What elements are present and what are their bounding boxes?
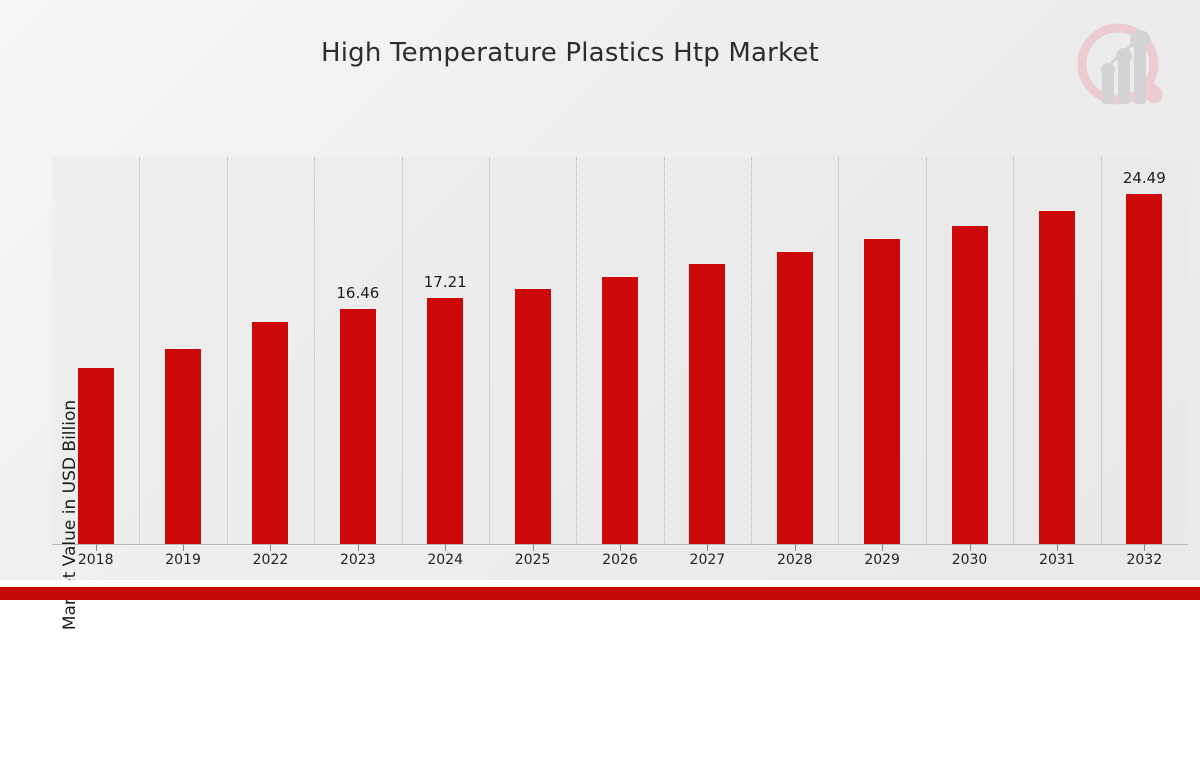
x-tick-label-2018: 2018 <box>78 552 114 568</box>
x-tick <box>882 544 883 551</box>
bar-value-label-2032: 24.49 <box>1123 169 1166 187</box>
bar-chart-icon <box>1101 30 1150 104</box>
x-tick-label-2031: 2031 <box>1039 552 1075 568</box>
bar-value-label-2024: 17.21 <box>424 273 467 291</box>
gridline <box>402 157 404 544</box>
footer-spacer <box>0 580 1200 587</box>
x-tick <box>970 544 971 551</box>
x-tick-label-2026: 2026 <box>602 552 638 568</box>
gridline <box>227 157 229 544</box>
gridline <box>576 157 578 544</box>
x-tick-label-2030: 2030 <box>952 552 988 568</box>
x-tick-label-2032: 2032 <box>1126 552 1162 568</box>
x-tick <box>445 544 446 551</box>
x-tick <box>270 544 271 551</box>
bar-2027[interactable] <box>688 263 726 544</box>
x-tick <box>533 544 534 551</box>
bar-2025[interactable] <box>514 288 552 544</box>
chart-page: High Temperature Plastics Htp Market Mar… <box>0 0 1200 600</box>
bar-2029[interactable] <box>863 238 901 544</box>
gridline <box>838 157 840 544</box>
gridline <box>751 157 753 544</box>
gridline <box>926 157 928 544</box>
bar-2022[interactable] <box>251 321 289 544</box>
x-tick <box>795 544 796 551</box>
gridline <box>1013 157 1015 544</box>
x-tick <box>707 544 708 551</box>
bar-2031[interactable] <box>1038 210 1076 544</box>
bar-2019[interactable] <box>164 348 202 544</box>
x-tick <box>1144 544 1145 551</box>
x-tick-label-2019: 2019 <box>165 552 201 568</box>
gridline <box>314 157 316 544</box>
brand-logo <box>1066 18 1178 120</box>
bar-value-label-2023: 16.46 <box>336 284 379 302</box>
x-tick <box>183 544 184 551</box>
x-tick-label-2029: 2029 <box>864 552 900 568</box>
x-tick <box>96 544 97 551</box>
x-tick-label-2025: 2025 <box>515 552 551 568</box>
bar-2023[interactable] <box>339 308 377 544</box>
bar-2018[interactable] <box>77 367 115 544</box>
gridline <box>489 157 491 544</box>
bar-2028[interactable] <box>776 251 814 544</box>
x-tick <box>1057 544 1058 551</box>
x-tick-label-2027: 2027 <box>690 552 726 568</box>
gridline <box>1101 157 1103 544</box>
x-tick-label-2028: 2028 <box>777 552 813 568</box>
gridline <box>139 157 141 544</box>
bar-2024[interactable] <box>426 297 464 544</box>
x-tick-label-2023: 2023 <box>340 552 376 568</box>
gridline <box>664 157 666 544</box>
x-tick <box>358 544 359 551</box>
footer-accent-bar <box>0 587 1200 600</box>
x-tick-label-2022: 2022 <box>253 552 289 568</box>
bar-2026[interactable] <box>601 276 639 544</box>
page-title: High Temperature Plastics Htp Market <box>0 38 1140 68</box>
plot-area: Market Value in USD Billion 16.4617.2124… <box>52 157 1188 545</box>
x-tick-label-2024: 2024 <box>427 552 463 568</box>
bar-2032[interactable] <box>1125 193 1163 544</box>
bar-2030[interactable] <box>951 225 989 544</box>
x-tick <box>620 544 621 551</box>
